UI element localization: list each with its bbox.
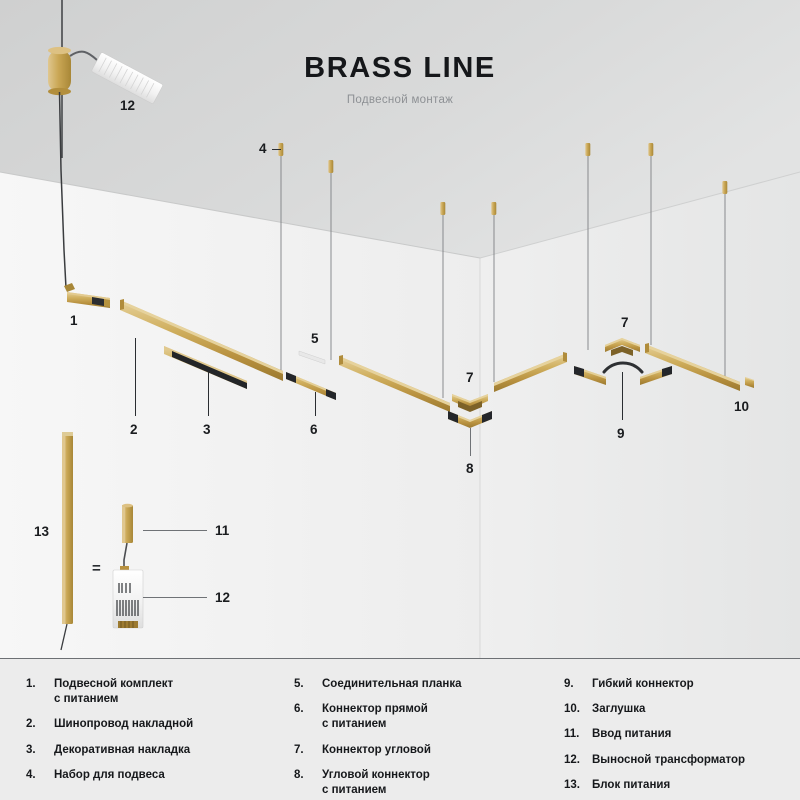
legend-label: Коннектор прямой с питанием (322, 702, 428, 732)
leader-line-6 (315, 392, 316, 416)
diagram-stage: BRASS LINE Подвесной монтаж 1 2 3 4 5 6 … (0, 0, 800, 800)
leader-line-8 (470, 428, 471, 456)
page-title: BRASS LINE (0, 52, 800, 85)
callout-6: 6 (310, 423, 318, 437)
legend-label: Гибкий коннектор (592, 677, 694, 692)
legend-item-4: 4. Набор для подвеса (26, 768, 284, 783)
legend-number: 11. (564, 727, 592, 742)
legend-label: Выносной трансформатор (592, 753, 745, 768)
legend-label: Заглушка (592, 702, 645, 717)
legend-item-13: 13. Блок питания (564, 778, 764, 793)
legend-item-1: 1. Подвесной комплект с питанием (26, 677, 284, 707)
legend-number: 7. (294, 743, 322, 758)
legend-item-12: 12. Выносной трансформатор (564, 753, 764, 768)
legend-number: 10. (564, 702, 592, 717)
legend-label: Ввод питания (592, 727, 671, 742)
legend-number: 13. (564, 778, 592, 793)
part-13-power-supply (61, 432, 73, 650)
legend-column-3: 9. Гибкий коннектор 10. Заглушка 11. Вво… (564, 677, 774, 800)
callout-10: 10 (734, 400, 749, 414)
legend-number: 8. (294, 768, 322, 798)
callout-7-right: 7 (621, 316, 629, 330)
legend-label: Блок питания (592, 778, 670, 793)
callout-5: 5 (311, 332, 319, 346)
legend-label: Декоративная накладка (54, 743, 190, 758)
legend-item-2: 2. Шинопровод накладной (26, 717, 284, 732)
legend-number: 3. (26, 743, 54, 758)
legend-number: 1. (26, 677, 54, 707)
legend: 1. Подвесной комплект с питанием 2. Шино… (0, 658, 800, 800)
legend-item-3: 3. Декоративная накладка (26, 743, 284, 758)
callout-3: 3 (203, 423, 211, 437)
callout-8: 8 (466, 462, 474, 476)
legend-number: 5. (294, 677, 322, 692)
page-subtitle: Подвесной монтаж (0, 94, 800, 106)
callout-13: 13 (34, 525, 49, 539)
legend-column-2: 5. Соединительная планка 6. Коннектор пр… (294, 677, 564, 800)
callout-4: 4 (259, 142, 267, 156)
legend-item-7: 7. Коннектор угловой (294, 743, 554, 758)
part-12-remote-transformer (113, 570, 143, 628)
legend-number: 9. (564, 677, 592, 692)
legend-item-11: 11. Ввод питания (564, 727, 764, 742)
leader-line-3 (208, 372, 209, 416)
legend-label: Шинопровод накладной (54, 717, 193, 732)
legend-item-10: 10. Заглушка (564, 702, 764, 717)
legend-label: Угловой коннектор с питанием (322, 768, 430, 798)
leader-line-9 (622, 372, 623, 420)
legend-item-8: 8. Угловой коннектор с питанием (294, 768, 554, 798)
leader-line-12 (143, 597, 207, 598)
legend-label: Коннектор угловой (322, 743, 431, 758)
legend-number: 4. (26, 768, 54, 783)
legend-item-6: 6. Коннектор прямой с питанием (294, 702, 554, 732)
leader-line-2 (135, 338, 136, 416)
legend-item-5: 5. Соединительная планка (294, 677, 554, 692)
legend-number: 6. (294, 702, 322, 732)
leader-line-4 (272, 149, 281, 150)
legend-item-9: 9. Гибкий коннектор (564, 677, 764, 692)
legend-label: Набор для подвеса (54, 768, 165, 783)
callout-2: 2 (130, 423, 138, 437)
equals-sign: = (92, 560, 101, 577)
callout-12-bottom: 12 (215, 591, 230, 605)
legend-label: Соединительная планка (322, 677, 462, 692)
legend-number: 2. (26, 717, 54, 732)
callout-9: 9 (617, 427, 625, 441)
legend-column-1: 1. Подвесной комплект с питанием 2. Шино… (26, 677, 294, 800)
callout-7-left: 7 (466, 371, 474, 385)
legend-label: Подвесной комплект с питанием (54, 677, 173, 707)
callout-11: 11 (215, 524, 229, 538)
leader-line-11 (143, 530, 207, 531)
title-block: BRASS LINE Подвесной монтаж (0, 52, 800, 106)
legend-number: 12. (564, 753, 592, 768)
callout-1: 1 (70, 314, 78, 328)
